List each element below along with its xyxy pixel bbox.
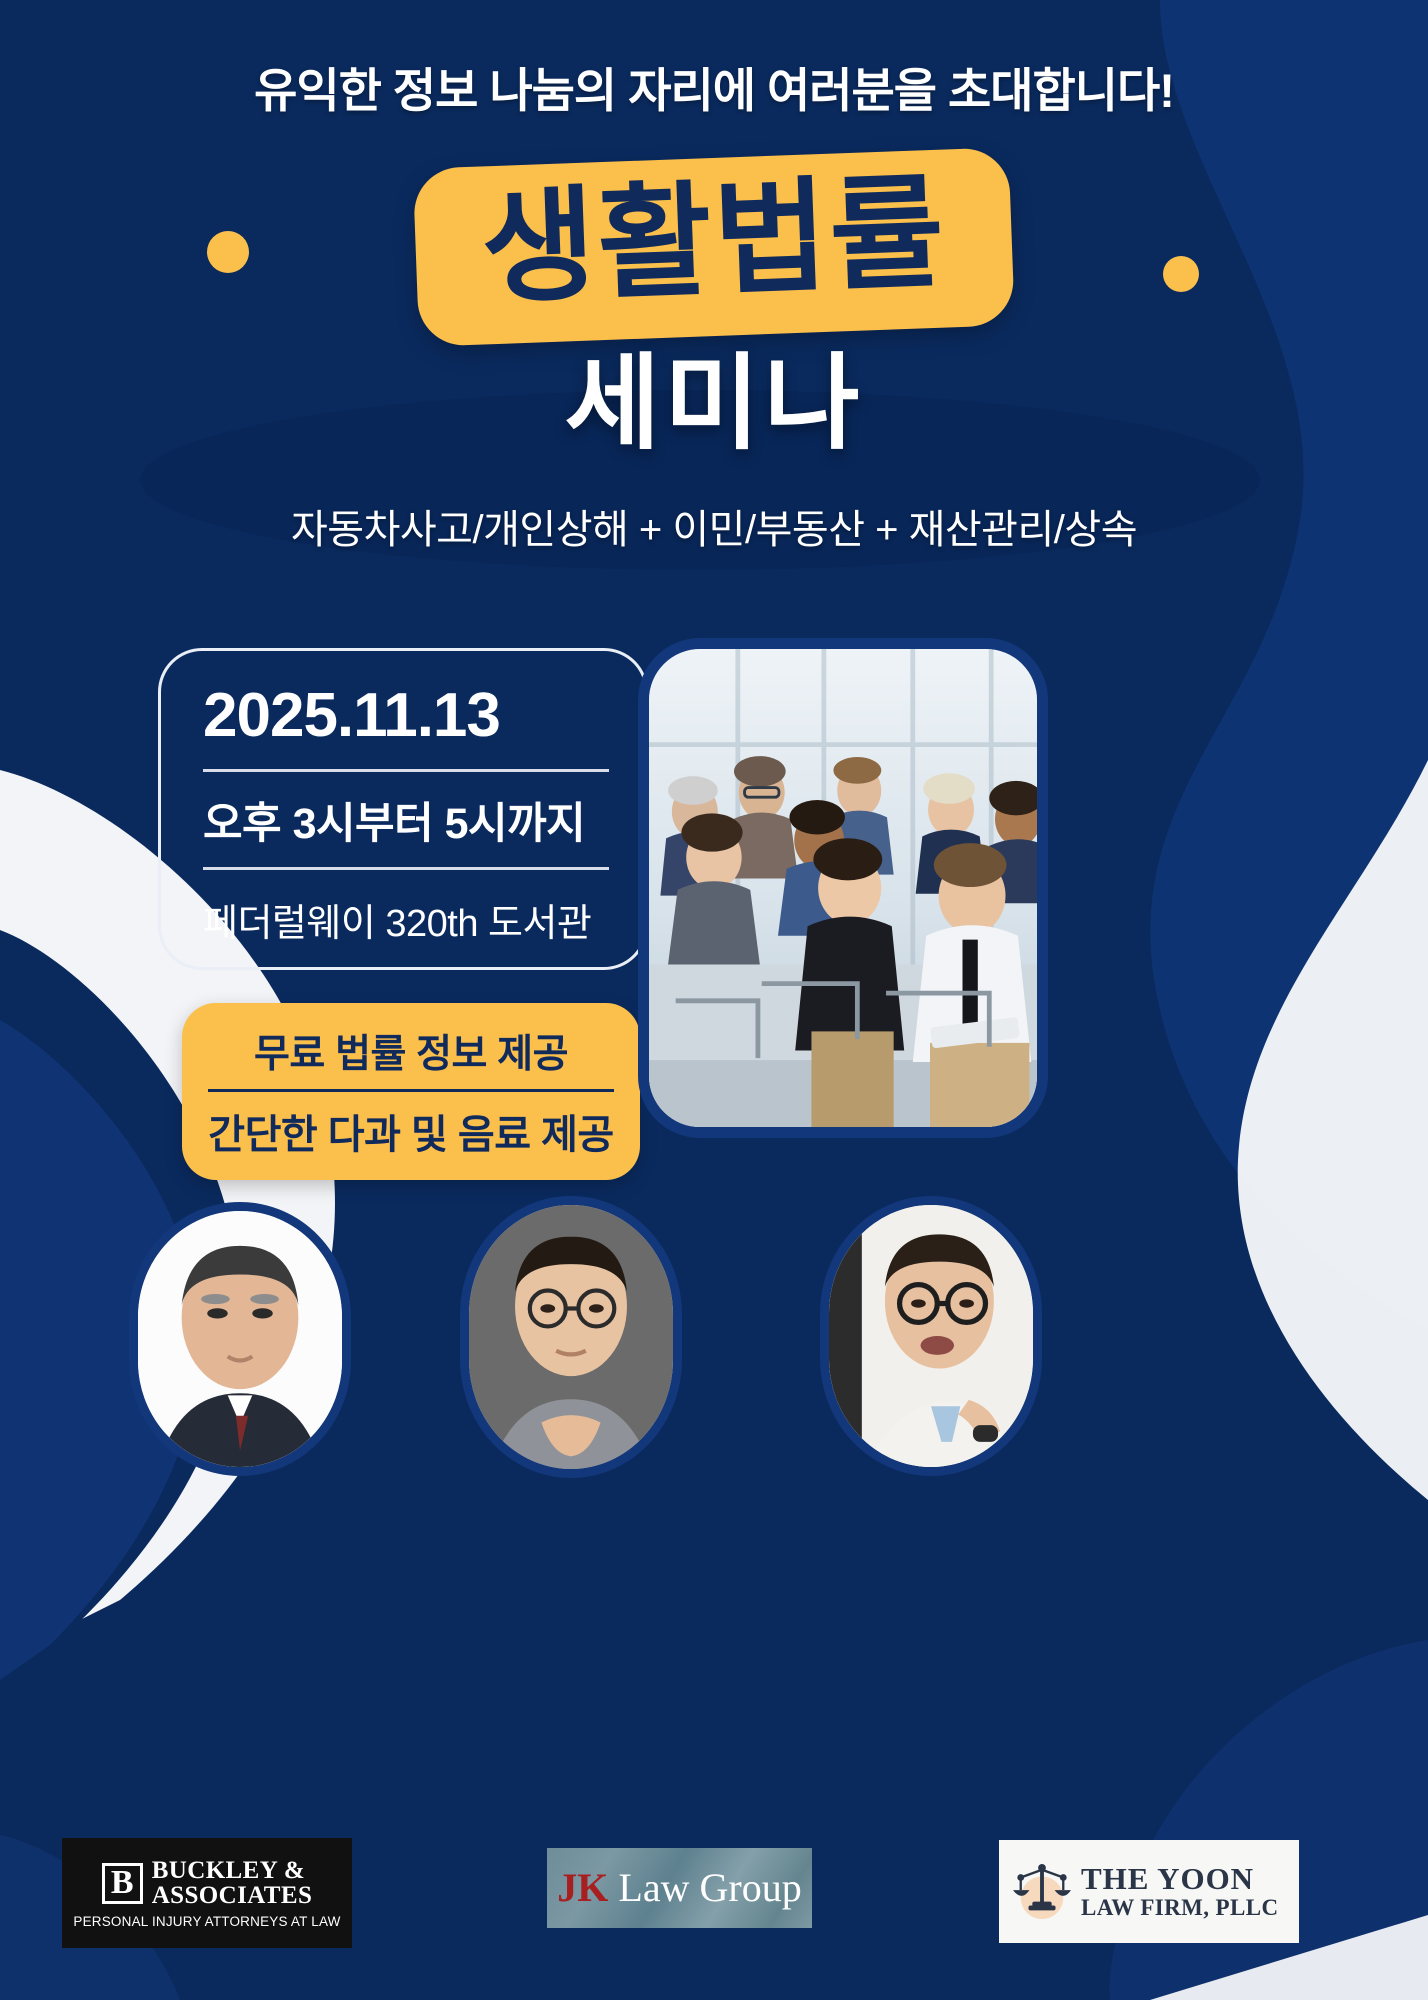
yoon-wordmark: THE YOON LAW FIRM, PLLC [1081, 1863, 1279, 1919]
yoon-name-line-2: LAW FIRM, PLLC [1081, 1896, 1279, 1920]
buckley-name-line-2: ASSOCIATES [152, 1883, 313, 1909]
speaker-1-illustration [138, 1211, 342, 1467]
seminar-audience-photo [638, 638, 1048, 1138]
seminar-photo-inner [649, 649, 1037, 1127]
jk-name: Law Group [608, 1865, 801, 1910]
poster-root: 유익한 정보 나눔의 자리에 여러분을 초대합니다! 생활법률 세미나 자동차사… [0, 0, 1428, 2000]
benefits-box: 무료 법률 정보 제공 간단한 다과 및 음료 제공 [182, 1003, 640, 1180]
event-time: 오후 3시부터 5시까지 [203, 772, 609, 867]
benefit-line-1: 무료 법률 정보 제공 [208, 1017, 614, 1089]
speaker-portraits [0, 1196, 1428, 1496]
logo-buckley-associates: B BUCKLEY & ASSOCIATES PERSONAL INJURY A… [62, 1838, 352, 1948]
speaker-portrait-2 [460, 1196, 682, 1478]
decorative-dot-right [1163, 256, 1199, 292]
speaker-2-illustration [469, 1205, 673, 1469]
benefit-line-2: 간단한 다과 및 음료 제공 [208, 1092, 614, 1162]
speaker-portrait-1 [129, 1202, 351, 1476]
scales-icon-svg [1013, 1861, 1071, 1923]
title-subtitle: 세미나 [0, 318, 1428, 469]
jk-initials: JK [557, 1865, 608, 1910]
buckley-name: BUCKLEY & ASSOCIATES [152, 1858, 313, 1909]
speaker-portrait-3 [820, 1196, 1042, 1476]
logo-yoon-law-firm: THE YOON LAW FIRM, PLLC [999, 1840, 1299, 1943]
services-line: 자동차사고/개인상해 + 이민/부동산 + 재산관리/상속 [0, 497, 1428, 555]
event-place: 페더럴웨이 320th 도서관 [203, 870, 609, 947]
seminar-photo-illustration [649, 649, 1037, 1127]
buckley-row: B BUCKLEY & ASSOCIATES [102, 1858, 313, 1909]
jk-wordmark: JK Law Group [557, 1868, 801, 1908]
event-date: 2025.11.13 [203, 685, 609, 747]
buckley-tagline: PERSONAL INJURY ATTORNEYS AT LAW [73, 1914, 340, 1929]
scales-of-justice-icon [1013, 1861, 1071, 1923]
title-badge-text: 생활법률 [479, 160, 948, 323]
buckley-b-mark-icon: B [102, 1863, 143, 1904]
event-info-card: 2025.11.13 오후 3시부터 5시까지 페더럴웨이 320th 도서관 [158, 648, 648, 970]
buckley-name-line-1: BUCKLEY & [152, 1858, 313, 1884]
yoon-name-line-1: THE YOON [1081, 1863, 1279, 1895]
logo-jk-law-group: JK Law Group [547, 1848, 812, 1928]
speaker-3-illustration [829, 1205, 1033, 1467]
sponsor-logos: B BUCKLEY & ASSOCIATES PERSONAL INJURY A… [0, 1800, 1428, 1960]
decorative-dot-left [207, 231, 249, 273]
poster-headline: 유익한 정보 나눔의 자리에 여러분을 초대합니다! [0, 52, 1428, 121]
